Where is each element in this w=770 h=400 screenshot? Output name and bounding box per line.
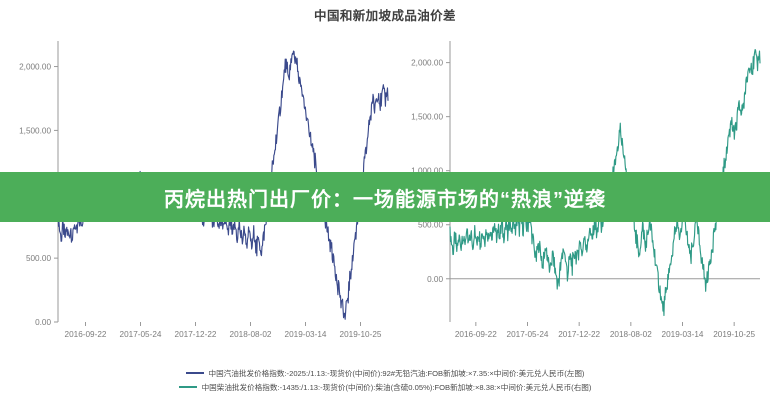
- x-tick-label: 2019-10-25: [340, 330, 382, 339]
- legend-swatch-blue-icon: [186, 372, 204, 374]
- x-tick-label: 2019-03-14: [662, 330, 704, 339]
- x-tick-label: 2016-09-22: [455, 330, 497, 339]
- x-tick-label: 2017-05-24: [120, 330, 162, 339]
- x-tick-label: 2017-12-22: [175, 330, 217, 339]
- overlay-banner: 丙烷出热门出厂价：一场能源市场的“热浪”逆袭: [0, 172, 770, 222]
- x-tick-label: 2017-05-24: [507, 330, 549, 339]
- legend-label-gasoline: 中国汽油批发价格指数:-2025:/1.13:-现货价(中间价):92#无铅汽油…: [209, 368, 585, 379]
- legend-swatch-teal-icon: [179, 386, 197, 388]
- y-tick-label: 2,000.00: [19, 63, 51, 72]
- y-tick-label: 0.00: [35, 318, 51, 327]
- y-tick-label: 1,500.00: [411, 113, 443, 122]
- y-tick-label: 500.00: [26, 254, 51, 263]
- page-title: 中国和新加坡成品油价差: [0, 5, 770, 24]
- x-tick-label: 2018-08-02: [230, 330, 272, 339]
- y-tick-label: 0.00: [427, 275, 443, 284]
- x-tick-label: 2019-10-25: [713, 330, 755, 339]
- x-tick-label: 2017-12-22: [558, 330, 600, 339]
- y-tick-label: 1,500.00: [19, 126, 51, 135]
- x-tick-label: 2016-09-22: [65, 330, 107, 339]
- chart-legend: 中国汽油批发价格指数:-2025:/1.13:-现货价(中间价):92#无铅汽油…: [0, 366, 770, 394]
- banner-headline: 丙烷出热门出厂价：一场能源市场的“热浪”逆袭: [164, 183, 606, 212]
- legend-item-diesel: 中国柴油批发价格指数:-1435:/1.13:-现货价(中间价):柴油(含硫0.…: [0, 380, 770, 394]
- chart-page: 中国和新加坡成品油价差 0.00500.001,000.001,500.002,…: [0, 0, 770, 400]
- x-tick-label: 2019-03-14: [285, 330, 327, 339]
- y-tick-label: 500.00: [418, 221, 443, 230]
- legend-item-gasoline: 中国汽油批发价格指数:-2025:/1.13:-现货价(中间价):92#无铅汽油…: [0, 366, 770, 380]
- x-tick-label: 2018-08-02: [610, 330, 652, 339]
- y-tick-label: 2,000.00: [411, 59, 443, 68]
- legend-label-diesel: 中国柴油批发价格指数:-1435:/1.13:-现货价(中间价):柴油(含硫0.…: [202, 382, 592, 393]
